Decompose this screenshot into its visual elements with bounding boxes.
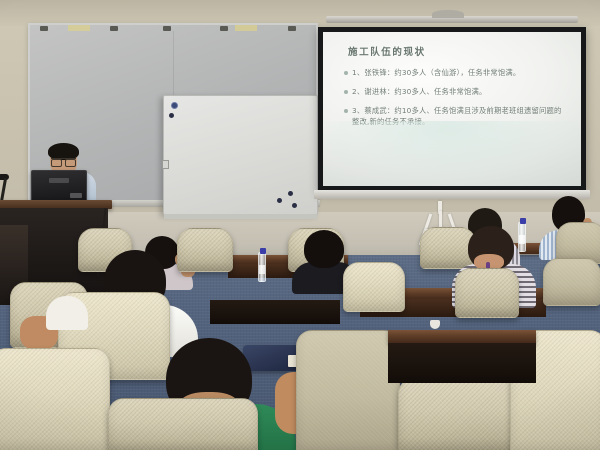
- bullet-dot-icon: [344, 71, 348, 75]
- magnet: [169, 113, 174, 118]
- bottle-label: [259, 265, 265, 274]
- chair: [177, 228, 233, 272]
- laptop-badge: [70, 193, 82, 198]
- magnet: [277, 198, 282, 203]
- chair: [0, 348, 110, 450]
- attendee-mid-center-dark: [300, 230, 348, 284]
- whiteboard-clip: [220, 26, 228, 31]
- bottle-cap: [520, 218, 526, 224]
- whiteboard-clip: [40, 26, 48, 31]
- slide-bullet: 1、张铁锋：约30多人（含仙游），任务非常饱满。: [340, 67, 568, 78]
- desk-row-front-shadow: [210, 300, 340, 324]
- whiteboard-clip: [163, 26, 171, 31]
- projection-screen-roller: [326, 16, 578, 23]
- whiteboard-panel-tray: [164, 214, 317, 219]
- whiteboard-panel-clip: [162, 160, 169, 169]
- water-bottle: [258, 252, 266, 282]
- chair: [108, 398, 258, 450]
- desk-front-panel: [388, 343, 536, 383]
- desk-row-front: [388, 330, 536, 344]
- magnet: [292, 203, 297, 208]
- bottle-cap: [260, 248, 266, 254]
- conference-room-photo: 施工队伍的现状 1、张铁锋：约30多人（含仙游），任务非常饱满。 2、谢进林：约…: [0, 0, 600, 450]
- whiteboard-tape: [68, 25, 90, 31]
- small-whiteboard: [163, 95, 318, 215]
- slide-bullet: 2、谢进林：约30多人、任务非常饱满。: [340, 86, 568, 97]
- magnet: [288, 191, 293, 196]
- projection-screen-frame: 施工队伍的现状 1、张铁锋：约30多人（含仙游），任务非常饱满。 2、谢进林：约…: [318, 27, 586, 192]
- presenter-laptop: [31, 170, 87, 203]
- whiteboard-clip: [288, 26, 296, 31]
- chair: [455, 268, 519, 318]
- slide-bullet-text: 2、谢进林：约30多人、任务非常饱满。: [352, 86, 486, 97]
- chair: [543, 258, 600, 306]
- chair: [296, 330, 400, 450]
- slide-title: 施工队伍的现状: [348, 44, 568, 58]
- glasses-icon: [51, 158, 76, 164]
- attendee-head: [304, 230, 344, 268]
- whiteboard-clip: [110, 26, 118, 31]
- projection-screen-surface: 施工队伍的现状 1、张铁锋：约30多人（含仙游），任务非常饱满。 2、谢进林：约…: [323, 32, 581, 186]
- attendee-shirt: [46, 296, 88, 330]
- bullet-dot-icon: [344, 90, 348, 94]
- chair: [343, 262, 405, 312]
- chair: [398, 378, 528, 450]
- magnet: [171, 102, 178, 109]
- whiteboard-tape: [235, 25, 257, 31]
- bullet-dot-icon: [344, 109, 348, 113]
- screen-glare: [323, 121, 581, 186]
- slide-bullet-text: 1、张铁锋：约30多人（含仙游），任务非常饱满。: [352, 67, 520, 78]
- laptop-logo: [49, 178, 69, 183]
- attendee-far-left: [20, 300, 80, 350]
